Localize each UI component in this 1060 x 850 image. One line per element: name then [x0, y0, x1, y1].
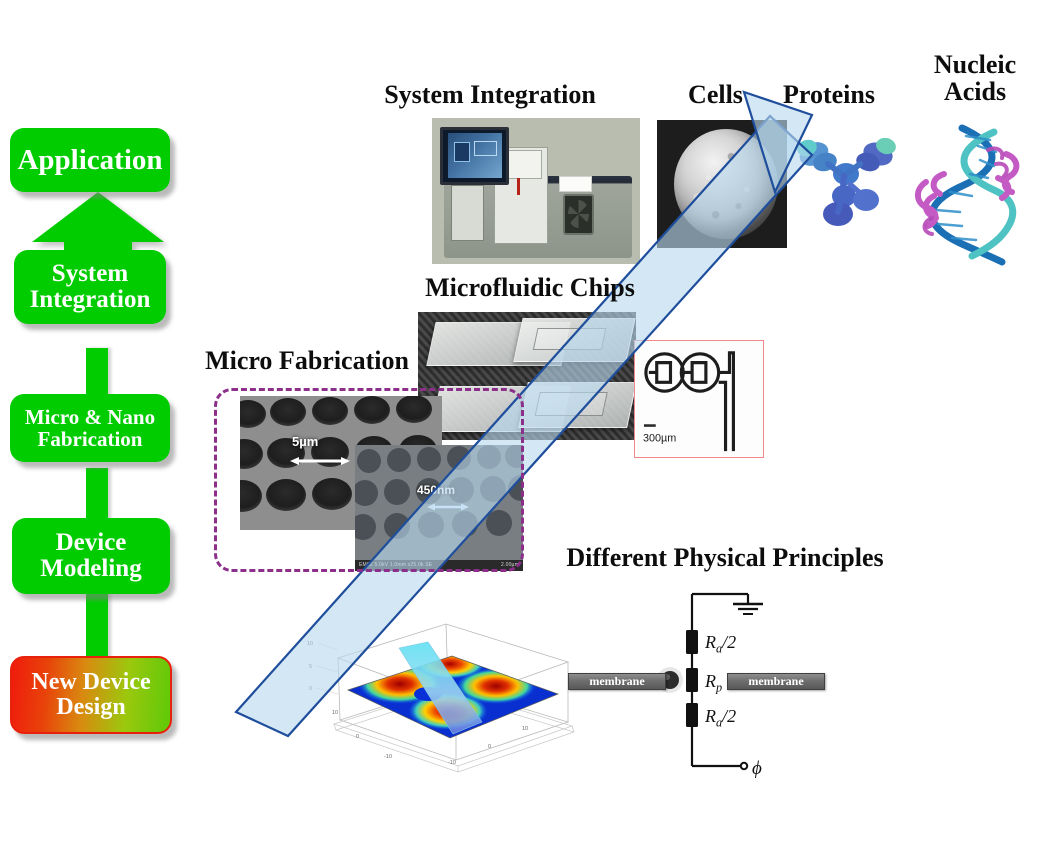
system-integration-instrument-photo [432, 118, 640, 264]
chip-slide-4 [518, 382, 636, 428]
svg-text:0: 0 [488, 744, 491, 750]
flow-step-device-modeling[interactable]: Device Modeling [12, 518, 170, 594]
nucleic-acid-structure-render [910, 118, 1050, 268]
chip-channel-region-1 [533, 329, 607, 351]
svg-text:-10: -10 [448, 760, 456, 766]
resistor-label-ra-top: Ra/2 [705, 632, 736, 657]
resistor-ra-top [686, 630, 698, 654]
channel-pattern: 300µm [635, 341, 763, 457]
microfluidic-channel-micrograph: 300µm [634, 340, 764, 458]
instrument-rack-modules [451, 185, 484, 240]
chip-channel-region-2 [534, 392, 608, 416]
resistor-elements [686, 630, 698, 727]
heading-physical-principles: Different Physical Principles [520, 545, 930, 572]
svg-text:-10: -10 [384, 754, 392, 760]
cell-sphere [674, 129, 778, 239]
heading-micro-fabrication: Micro Fabrication [182, 348, 432, 375]
chip-slide-2 [514, 318, 636, 362]
membrane-bar-right: membrane [727, 673, 825, 690]
flow-step-micro-nano-fabrication-label: Micro & Nano Fabrication [14, 406, 166, 450]
svg-text:10: 10 [522, 726, 528, 732]
flow-step-micro-nano-fabrication[interactable]: Micro & Nano Fabrication [10, 394, 170, 462]
membrane-left-label: membrane [589, 674, 644, 689]
instrument-red-wire [517, 178, 520, 196]
svg-text:0: 0 [356, 734, 359, 740]
instrument-brand-label [559, 176, 592, 192]
phi-symbol-label: ϕ [752, 758, 762, 779]
flow-step-system-integration[interactable]: System Integration [14, 250, 166, 324]
instrument-fan-icon [563, 194, 594, 235]
membrane-right-label: membrane [748, 674, 803, 689]
heading-cells: Cells [663, 82, 768, 109]
flow-step-system-integration-label: System Integration [18, 261, 162, 314]
phi-terminal [741, 763, 747, 769]
flow-step-application[interactable]: Application [10, 128, 170, 192]
micro-fabrication-dashed-frame [214, 388, 524, 572]
flow-stem-4 [86, 588, 108, 660]
channel-scale-bar-label: 300µm [643, 432, 676, 444]
flow-step-new-device-design[interactable]: New Device Design [10, 656, 172, 734]
svg-text:0: 0 [309, 686, 312, 692]
svg-text:10: 10 [332, 710, 338, 716]
svg-text:5: 5 [309, 664, 312, 670]
membrane-bar-left: membrane [568, 673, 666, 690]
heading-proteins: Proteins [764, 82, 894, 109]
resistor-label-ra-bottom: Ra/2 [705, 706, 736, 731]
3d-field-simulation-surface: 10 5 0 10 0 -10 10 0 -10 [300, 598, 590, 788]
resistor-label-rp: Rp [705, 671, 722, 696]
heading-nucleic-acids: Nucleic Acids [900, 52, 1050, 105]
figure-canvas: Application System Integration Micro & N… [0, 0, 1060, 850]
svg-text:10: 10 [307, 641, 313, 647]
resistor-ra-bottom [686, 703, 698, 727]
flow-step-device-modeling-label: Device Modeling [16, 530, 166, 583]
upward-arrow-icon [28, 190, 168, 250]
instrument-monitor [440, 127, 509, 185]
instrument-screen [448, 133, 502, 178]
resistor-rp [686, 668, 698, 692]
heading-microfluidic-chips: Microfluidic Chips [395, 275, 665, 302]
protein-structure-render [780, 118, 910, 248]
cell-sem-image [657, 120, 787, 248]
flow-step-new-device-design-label: New Device Design [16, 670, 166, 720]
heading-system-integration: System Integration [365, 82, 615, 109]
flow-step-application-label: Application [17, 145, 162, 175]
